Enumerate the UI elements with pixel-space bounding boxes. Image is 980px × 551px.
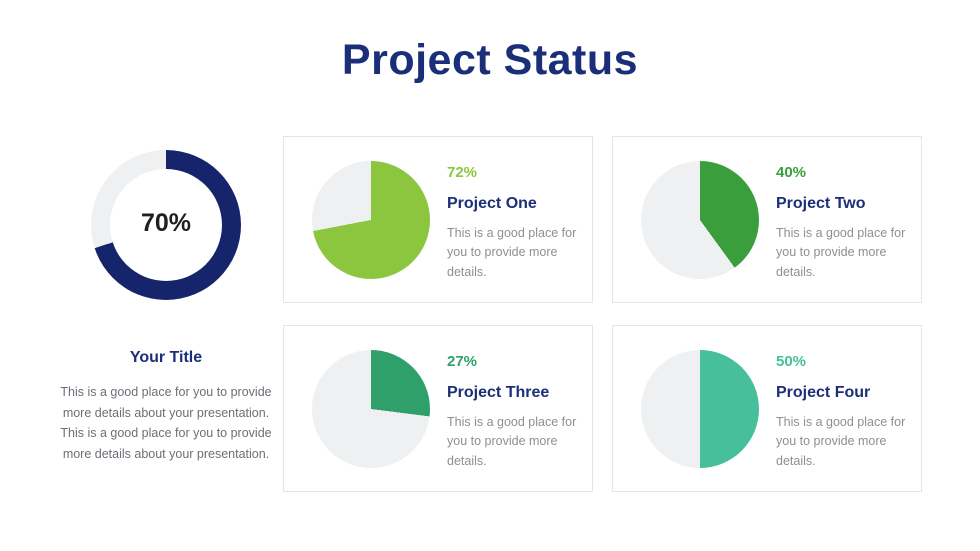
donut-chart-70: 70% bbox=[91, 150, 241, 300]
card-percent: 72% bbox=[447, 165, 577, 180]
card-description: This is a good place for you to provide … bbox=[776, 413, 906, 471]
left-panel-title: Your Title bbox=[60, 349, 272, 367]
card-description: This is a good place for you to provide … bbox=[447, 224, 577, 282]
card-percent: 27% bbox=[447, 354, 577, 369]
card-text-block: 72% Project One This is a good place for… bbox=[447, 165, 577, 282]
card-text-block: 40% Project Two This is a good place for… bbox=[776, 165, 906, 282]
card-title: Project Two bbox=[776, 196, 906, 212]
left-summary-panel: 70% Your Title This is a good place for … bbox=[60, 150, 272, 465]
donut-value-label: 70% bbox=[91, 209, 241, 238]
card-title: Project Three bbox=[447, 385, 577, 401]
pie-chart bbox=[312, 350, 430, 468]
card-text-block: 27% Project Three This is a good place f… bbox=[447, 354, 577, 471]
card-title: Project Four bbox=[776, 385, 906, 401]
pie-chart bbox=[641, 161, 759, 279]
card-text-block: 50% Project Four This is a good place fo… bbox=[776, 354, 906, 471]
project-card[interactable]: 72% Project One This is a good place for… bbox=[283, 136, 593, 303]
card-percent: 40% bbox=[776, 165, 906, 180]
slide-root: Project Status 70% Your Title This is a … bbox=[0, 0, 980, 551]
project-card[interactable]: 40% Project Two This is a good place for… bbox=[612, 136, 922, 303]
project-card[interactable]: 27% Project Three This is a good place f… bbox=[283, 325, 593, 492]
card-description: This is a good place for you to provide … bbox=[447, 413, 577, 471]
pie-chart bbox=[312, 161, 430, 279]
pie-chart bbox=[641, 350, 759, 468]
card-title: Project One bbox=[447, 196, 577, 212]
card-percent: 50% bbox=[776, 354, 906, 369]
left-panel-body: This is a good place for you to provide … bbox=[60, 382, 272, 465]
card-description: This is a good place for you to provide … bbox=[776, 224, 906, 282]
project-card[interactable]: 50% Project Four This is a good place fo… bbox=[612, 325, 922, 492]
page-title: Project Status bbox=[0, 36, 980, 85]
